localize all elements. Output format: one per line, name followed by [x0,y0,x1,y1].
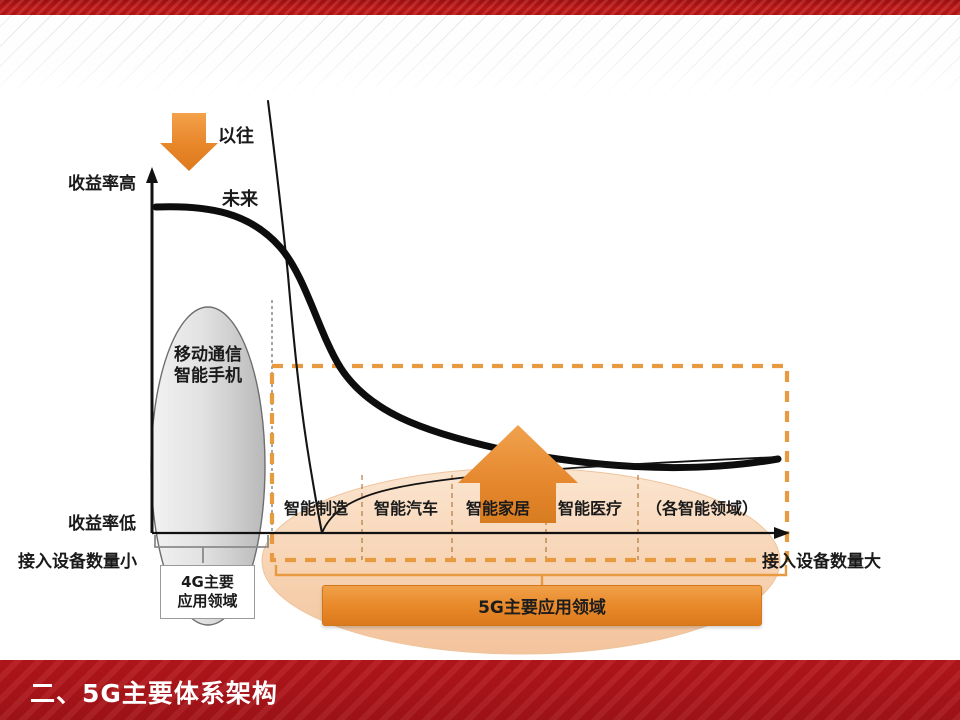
domain-label-3: 智能医疗 [558,495,622,519]
four-g-ellipse-label-line1: 移动通信 [152,345,264,365]
x-axis-left-label: 接入设备数量小 [18,547,137,572]
five-g-callout-box: 5G主要应用领域 [322,585,762,626]
y-axis-bottom-label: 收益率低 [68,509,136,534]
four-g-callout-box: 4G主要 应用领域 [160,565,255,619]
four-g-callout-line2: 应用领域 [177,592,237,611]
domain-label-4: （各智能领域） [646,495,758,519]
future-curve-label: 未来 [222,185,258,211]
slide-footer-title: 二、5G主要体系架构 [30,674,278,710]
diagram-canvas: 收益率高 收益率低 接入设备数量小 接入设备数量大 以往 未来 移动通信 智能手… [0,95,960,655]
y-axis-arrowhead [146,167,158,183]
stripe-band-fade [0,15,960,97]
top-red-bar-texture [0,0,960,15]
y-axis-top-label: 收益率高 [68,169,136,194]
four-g-callout-line1: 4G主要 [177,573,237,592]
bottom-red-bar: 二、5G主要体系架构 [0,660,960,720]
domain-label-1: 智能汽车 [374,495,438,519]
five-g-callout-label: 5G主要应用领域 [478,593,606,618]
domain-label-2: 智能家居 [466,495,530,519]
four-g-ellipse-label-line2: 智能手机 [152,366,264,386]
domain-label-0: 智能制造 [284,495,348,519]
slide-root: 收益率高 收益率低 接入设备数量小 接入设备数量大 以往 未来 移动通信 智能手… [0,0,960,720]
top-red-bar [0,0,960,15]
past-curve-label: 以往 [218,122,254,148]
x-axis-right-label: 接入设备数量大 [762,547,881,572]
past-down-arrow-icon [160,113,218,171]
